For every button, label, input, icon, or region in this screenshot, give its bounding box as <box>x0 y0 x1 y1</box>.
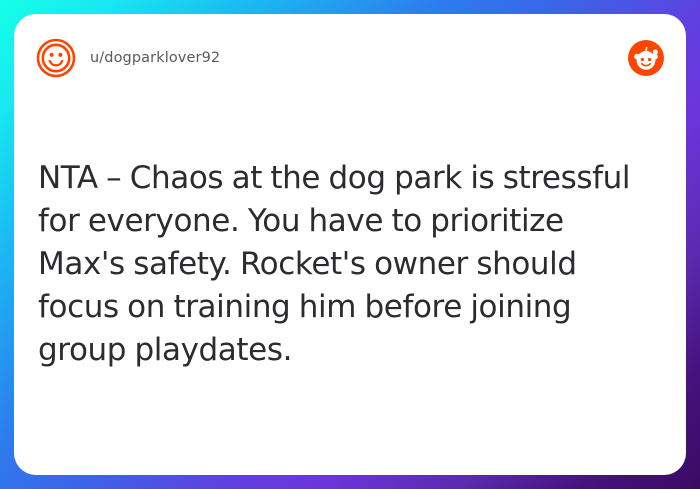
comment-body: NTA – Chaos at the dog park is stressful… <box>38 157 662 372</box>
avatar[interactable] <box>36 38 76 78</box>
comment-text-line: for everyone. You have to prioritize <box>38 200 662 243</box>
screenshot-canvas: u/dogparklover92 NTA – Chaos at the dog … <box>0 0 700 489</box>
username-label: u/dogparklover92 <box>90 51 220 66</box>
reddit-comment-card: u/dogparklover92 NTA – Chaos at the dog … <box>14 14 686 475</box>
comment-text-line: NTA – Chaos at the dog park is stressful <box>38 157 662 200</box>
reddit-snoo-logo-icon[interactable] <box>628 40 664 76</box>
comment-text-line: focus on training him before joining <box>38 286 662 329</box>
comment-text-line: group playdates. <box>38 329 662 372</box>
comment-text: NTA – Chaos at the dog park is stressful… <box>38 157 662 372</box>
comment-text-line: Max's safety. Rocket's owner should <box>38 243 662 286</box>
smiley-face-avatar-icon <box>36 38 76 78</box>
card-header: u/dogparklover92 <box>36 36 664 80</box>
